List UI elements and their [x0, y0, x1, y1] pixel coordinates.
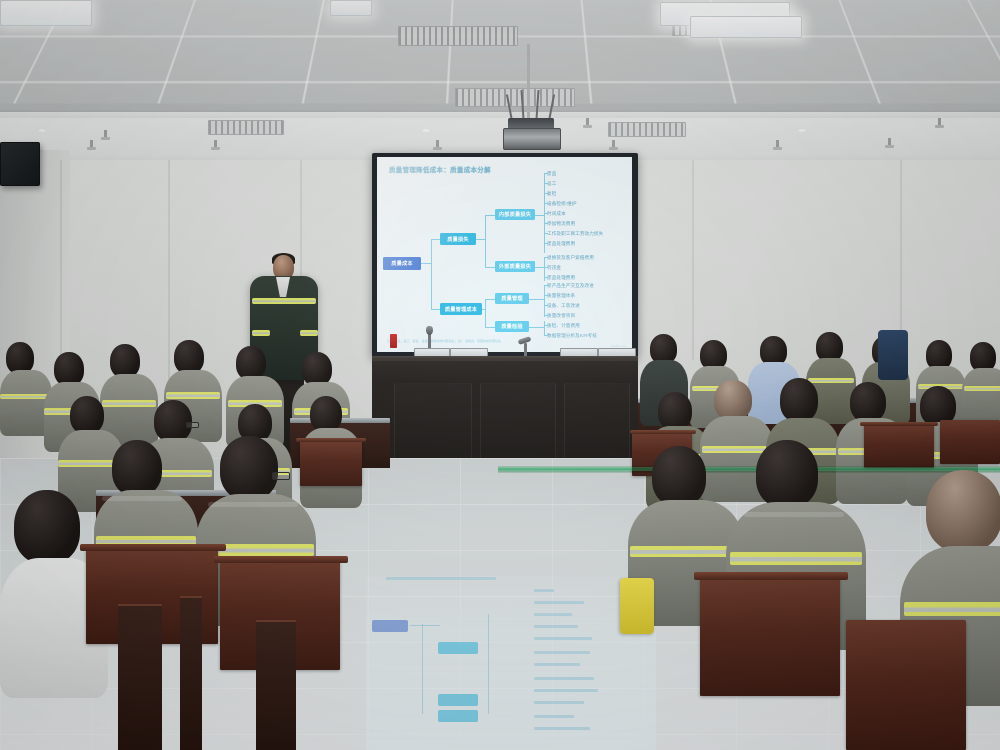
chair	[700, 576, 840, 696]
laser-pointer-glow	[498, 467, 1000, 471]
mindmap-leaf: 废品处理费用	[547, 275, 575, 281]
sprinkler-head	[104, 130, 107, 139]
reflection-leaf-text	[534, 663, 580, 666]
microphone-head	[426, 326, 433, 335]
mindmap-leaf: 质检、计量费用	[547, 323, 580, 329]
reflection-title-text	[386, 577, 496, 580]
reflection-leaf-text	[534, 637, 592, 640]
mindmap-connector	[544, 243, 548, 244]
mindmap-leaf: 新产品生产交互及改进	[547, 283, 594, 289]
chair-rail	[860, 422, 938, 426]
chair-rail	[630, 430, 696, 434]
person-head	[652, 446, 706, 506]
mindmap-connector	[485, 299, 495, 300]
mindmap-connector	[529, 299, 544, 300]
mindmap-leaf: 废品处理费用	[547, 241, 575, 247]
reflective-stripe	[808, 378, 854, 383]
person-head	[110, 344, 140, 378]
person-head	[154, 400, 192, 442]
mindmap-sub-node-3: 质量管理	[495, 293, 529, 304]
mindmap-leaf: 设备、工装改进	[547, 303, 580, 309]
person-head	[54, 352, 84, 386]
reflection-leaf-text	[534, 625, 578, 628]
mindmap-connector	[544, 335, 548, 336]
mindmap-connector	[544, 267, 548, 268]
chair-rail	[214, 556, 348, 563]
mindmap-connector	[431, 239, 432, 309]
chair	[864, 424, 934, 468]
air-vent	[455, 88, 575, 107]
air-vent	[398, 26, 518, 46]
reflection-leaf-text	[534, 677, 594, 680]
person-head	[302, 352, 332, 386]
mindmap-connector	[529, 327, 544, 328]
shoulder-highlight	[102, 496, 182, 501]
slide-footnote: 注1：废品、返工、复检、设备检修等构成内部损失；注2：退换货、索赔构成外部损失	[387, 339, 501, 343]
reflection-leaf-text	[534, 701, 584, 704]
mindmap-leaf: 退换货及客户索赔费用	[547, 255, 594, 261]
mindmap-connector	[544, 277, 548, 278]
wall-speaker	[0, 142, 40, 186]
audience-desk	[118, 604, 162, 750]
mindmap-connector	[431, 309, 440, 310]
projection-screen: 质量管理降低成本：质量成本分解 质量成本 质量损失 质量管理成本 内部质量损失 …	[377, 157, 632, 352]
mindmap-connector	[485, 327, 495, 328]
sprinkler-head	[612, 140, 615, 149]
mindmap-leaf: 停加物流费用	[547, 221, 575, 227]
reflection-root-node	[372, 620, 408, 632]
sprinkler-head	[436, 140, 439, 149]
mindmap-leaf: 工作及职工窝工劳动力损失	[547, 231, 603, 237]
person-uniform	[878, 330, 908, 380]
mindmap-connector	[544, 325, 548, 326]
person-head	[174, 340, 204, 374]
person-head	[70, 396, 104, 434]
ceiling-downlight	[420, 128, 432, 133]
mindmap-connector	[544, 173, 548, 174]
wall-seam	[692, 160, 694, 360]
chair	[846, 620, 966, 750]
person-head	[112, 440, 162, 496]
reflection-connector	[422, 624, 423, 714]
mindmap-connector	[544, 285, 548, 286]
mindmap-sub-node-1: 内部质量损失	[495, 209, 535, 220]
chair-rail	[296, 438, 366, 442]
mindmap-connector	[485, 215, 486, 267]
reflection-branch-node	[438, 694, 478, 706]
mindmap-connector	[544, 295, 548, 296]
reflection-leaf-text	[534, 589, 554, 592]
reflective-stripe	[904, 602, 1000, 616]
mindmap-branch-node-1: 质量损失	[440, 233, 476, 245]
sprinkler-head	[776, 140, 779, 149]
mindmap-leaf: 时间成本	[547, 211, 566, 217]
mindmap-connector	[544, 203, 548, 204]
ceiling-panel-light	[0, 0, 92, 26]
person-head	[926, 470, 1000, 552]
presidium-table	[372, 358, 638, 473]
conference-room-photograph: 质量管理降低成本：质量成本分解 质量成本 质量损失 质量管理成本 内部质量损失 …	[0, 0, 1000, 750]
reflective-stripe	[166, 392, 220, 399]
mindmap-connector	[544, 257, 548, 258]
reflective-stripe	[252, 330, 270, 336]
shoulder-highlight	[208, 502, 298, 507]
reflection-leaf-text	[534, 715, 574, 718]
chair-rail	[694, 572, 848, 580]
reflective-stripe	[58, 460, 120, 467]
reflection-branch-node	[438, 710, 478, 722]
reflective-stripe	[300, 330, 318, 336]
mindmap-connector	[544, 321, 545, 335]
mindmap-connector	[544, 285, 545, 317]
mindmap-connector	[544, 193, 548, 194]
sprinkler-head	[938, 118, 941, 127]
mindmap-branch-node-2: 质量管理成本	[440, 303, 482, 315]
yellow-bag	[620, 578, 654, 634]
mindmap-connector	[476, 239, 485, 240]
mindmap-connector	[485, 267, 495, 268]
reflective-stripe	[964, 386, 1000, 391]
reflection-leaf-text	[534, 613, 572, 616]
audience-desk	[256, 620, 296, 750]
audience-desk	[180, 596, 202, 750]
reflection-leaf-text	[534, 601, 584, 604]
reflection-leaf-text	[534, 651, 590, 654]
floor-reflection-of-slide	[366, 576, 656, 750]
person-head	[756, 440, 818, 508]
microphone-stand	[524, 343, 527, 357]
mindmap-connector	[544, 223, 548, 224]
mindmap-connector	[544, 305, 548, 306]
mindmap-connector	[485, 299, 486, 327]
sprinkler-head	[90, 140, 93, 149]
reflective-stripe	[102, 400, 156, 407]
person-head	[780, 378, 818, 422]
person-head	[220, 436, 278, 500]
reflection-leaf-text	[534, 727, 590, 730]
person-head	[310, 396, 342, 432]
chair	[300, 440, 362, 486]
mindmap-connector	[535, 215, 544, 216]
sprinkler-head	[586, 118, 589, 127]
wall-seam	[168, 160, 170, 380]
mindmap-connector	[431, 239, 440, 240]
mindmap-leaf: 复检	[547, 191, 556, 197]
presidium-panel	[394, 383, 472, 465]
ceiling-downlight	[36, 128, 48, 133]
mindmap-connector	[421, 263, 431, 264]
reflection-leaf-text	[534, 689, 598, 692]
person-head	[658, 392, 692, 430]
mindmap-sub-node-2: 外部质量损失	[495, 261, 535, 272]
reflective-stripe	[730, 552, 862, 565]
person-head	[850, 382, 886, 422]
reflection-branch-node	[438, 642, 478, 654]
mindmap-sub-node-4: 质量检验	[495, 321, 529, 332]
reflective-stripe	[252, 298, 316, 304]
ceiling-panel-light	[330, 0, 372, 16]
projector-mount-rod	[527, 44, 530, 118]
mindmap-connector	[485, 215, 495, 216]
air-vent	[208, 120, 284, 135]
chair-rail	[80, 544, 226, 551]
sprinkler-head	[214, 140, 217, 149]
person-head	[236, 346, 266, 380]
person-head	[714, 380, 752, 420]
ceiling-projector	[503, 128, 561, 150]
shoulder-highlight	[744, 512, 844, 517]
mindmap-leaf: 返工	[547, 181, 556, 187]
mindmap-leaf: 设备检修/维护	[547, 201, 577, 207]
desk-flag	[390, 334, 397, 348]
slide-title: 质量管理降低成本：质量成本分解	[389, 165, 491, 174]
mindmap-leaf: 废品	[547, 171, 556, 177]
presidium-panel	[480, 383, 556, 465]
person-head	[14, 490, 80, 564]
ceiling-downlight	[796, 128, 808, 133]
mindmap-leaf: 数据管理分析及KPI考核	[547, 333, 597, 339]
mindmap-connector	[544, 315, 548, 316]
sprinkler-head	[888, 138, 891, 147]
reflection-connector	[410, 625, 440, 626]
ceiling-panel-light	[690, 16, 802, 38]
eyeglasses	[186, 422, 199, 428]
mindmap-connector	[544, 213, 548, 214]
reflection-connector	[488, 614, 489, 714]
mindmap-connector	[544, 183, 548, 184]
mindmap-leaf: 质量改善项目	[547, 313, 575, 319]
reflective-stripe	[0, 394, 50, 399]
mindmap-leaf: 质量管理体系	[547, 293, 575, 299]
air-vent	[608, 122, 686, 137]
mindmap-root-node: 质量成本	[383, 257, 421, 270]
mindmap-connector	[535, 267, 544, 268]
mindmap-connector	[544, 233, 548, 234]
chair	[940, 420, 1000, 464]
presidium-panel	[564, 383, 630, 465]
eyeglasses	[272, 472, 290, 480]
mindmap-leaf: 罚违金	[547, 265, 561, 271]
